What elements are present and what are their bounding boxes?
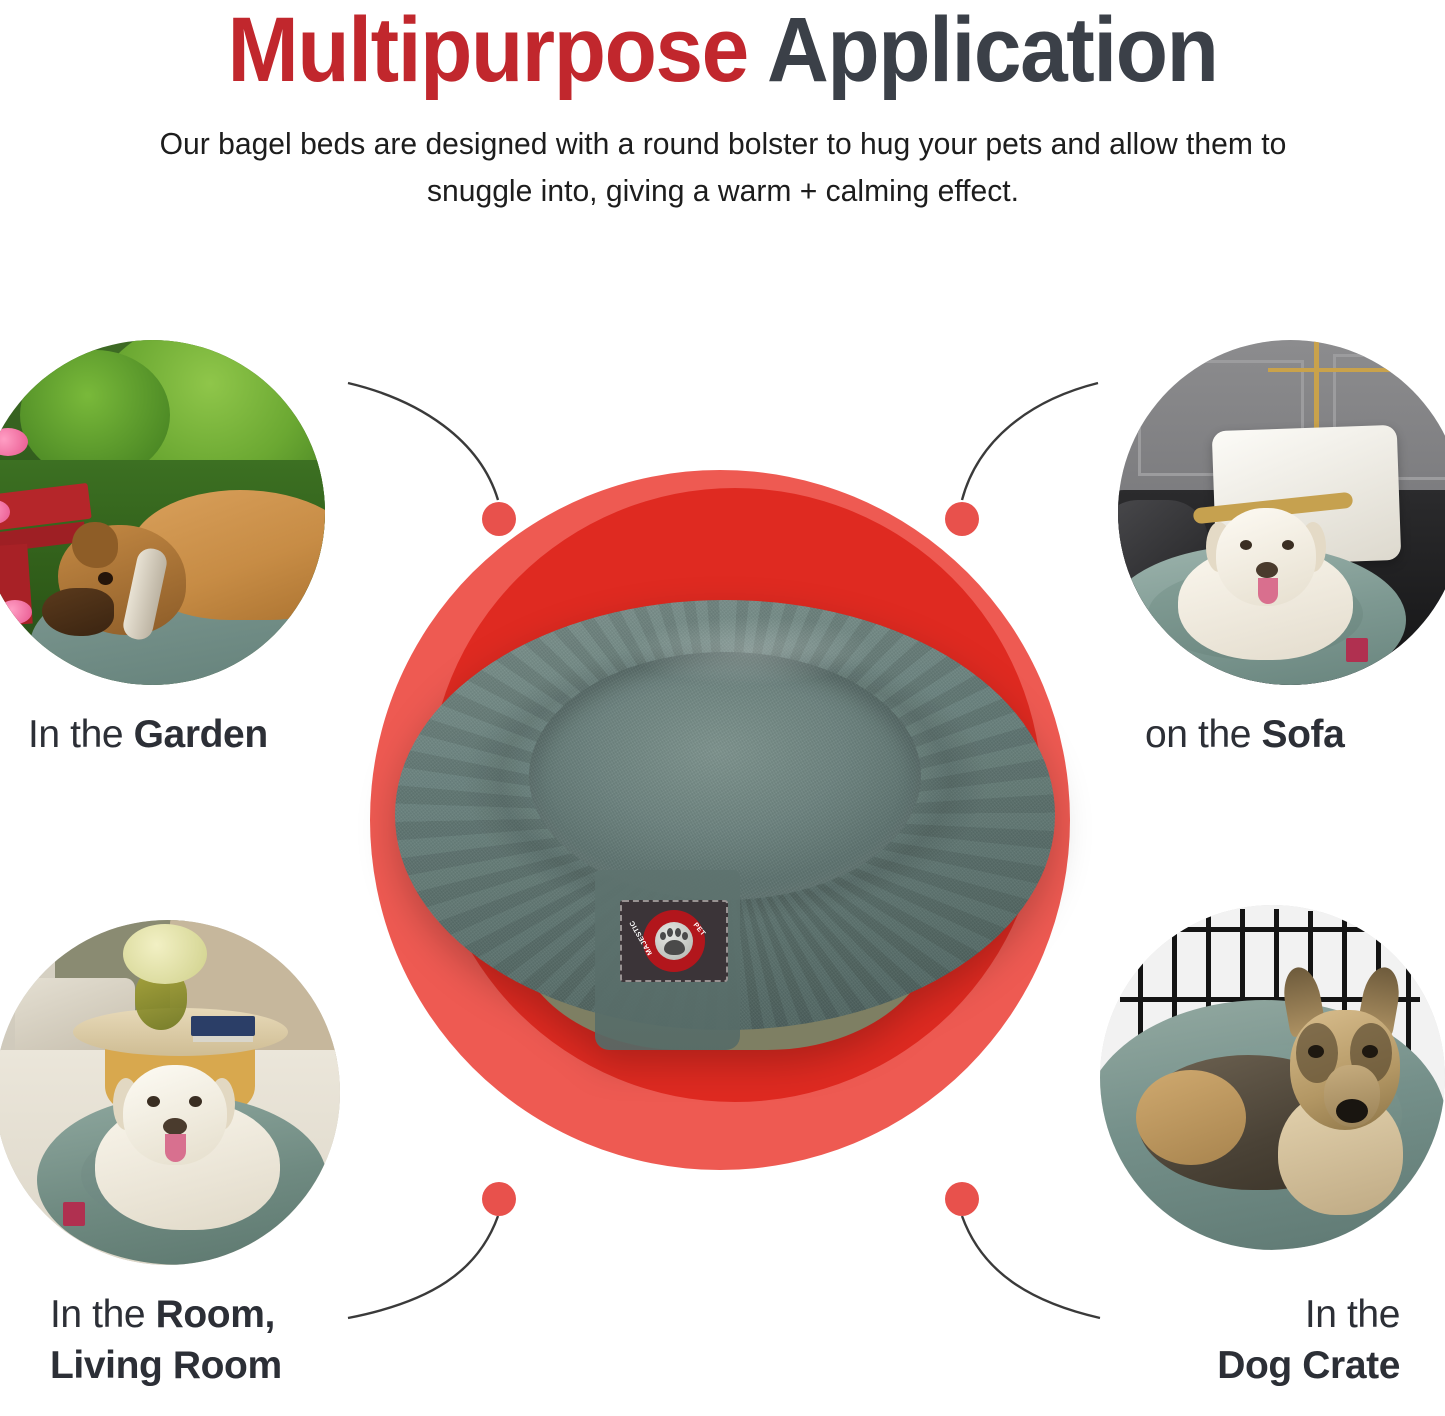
crate-dog-eye-left xyxy=(1308,1045,1324,1058)
caption-sofa: on the Sofa xyxy=(1145,710,1344,761)
crate-bar-v9 xyxy=(1406,937,1411,1057)
sofa-gold-trim-horizontal xyxy=(1268,368,1418,372)
sofa-bed-brand-tag xyxy=(1346,638,1368,662)
interior-fabric-texture xyxy=(529,652,921,900)
photo-living-room xyxy=(0,920,340,1265)
crate-dog-nose xyxy=(1336,1099,1368,1123)
sofa-dog-nose xyxy=(1256,562,1278,578)
photo-dog-crate xyxy=(1100,905,1445,1250)
caption-living-room: In the Room,Living Room xyxy=(50,1290,282,1391)
caption-garden: In the Garden xyxy=(28,710,268,761)
caption-dog-crate-regular: In the xyxy=(1305,1293,1400,1336)
sofa-dog-eye-right xyxy=(1282,540,1294,550)
paw-print-icon xyxy=(655,922,693,960)
caption-living-room-line2: Living Room xyxy=(50,1344,282,1387)
coffee-table-books xyxy=(191,1016,255,1036)
living-room-dog-eye-left xyxy=(147,1096,160,1107)
paw-toe-1 xyxy=(660,932,666,940)
caption-garden-regular: In the xyxy=(28,713,134,756)
paw-toe-3 xyxy=(675,928,681,937)
caption-living-room-regular: In the xyxy=(50,1293,156,1336)
crate-dog-hindquarters xyxy=(1136,1070,1246,1165)
crate-scene xyxy=(1100,905,1445,1250)
garden-dog-muzzle xyxy=(42,588,114,636)
crate-bar-v1 xyxy=(1138,923,1143,1043)
sofa-dog-eye-left xyxy=(1240,540,1252,550)
hydrangea-flowers xyxy=(123,924,207,984)
caption-dog-crate: In theDog Crate xyxy=(1000,1290,1400,1391)
brand-tag: MAJESTIC PET xyxy=(620,900,728,982)
caption-sofa-bold: Sofa xyxy=(1261,713,1344,756)
bolster-highlight xyxy=(625,616,875,686)
paw-pad-main xyxy=(664,940,685,955)
caption-dog-crate-bold: Dog Crate xyxy=(1217,1344,1400,1387)
caption-garden-bold: Garden xyxy=(134,713,268,756)
caption-living-room-bold: Room, xyxy=(156,1293,275,1336)
crate-dog-eye-right xyxy=(1362,1045,1378,1058)
crate-bar-h1 xyxy=(1120,927,1420,932)
photo-sofa xyxy=(1118,340,1445,685)
page-subtitle: Our bagel beds are designed with a round… xyxy=(131,120,1314,214)
majestic-pet-logo: MAJESTIC PET xyxy=(643,910,705,972)
page-title-dark-part: Application xyxy=(767,0,1217,101)
connector-dot-dog-crate xyxy=(945,1182,979,1216)
header: Multipurpose Application Our bagel beds … xyxy=(0,0,1445,214)
living-room-dog-tongue xyxy=(165,1134,186,1162)
living-room-dog-eye-right xyxy=(189,1096,202,1107)
paw-toe-2 xyxy=(667,928,673,937)
living-room-dog-nose xyxy=(163,1118,187,1135)
connector-dot-living-room xyxy=(482,1182,516,1216)
sofa-scene xyxy=(1118,340,1445,685)
garden-dog-eye xyxy=(98,572,113,585)
page-title-red-part: Multipurpose xyxy=(227,0,767,101)
brand-text-top: MAJESTIC xyxy=(629,919,654,956)
paw-toe-4 xyxy=(682,932,688,940)
living-room-bed-brand-tag xyxy=(63,1202,85,1226)
product-bagel-bed: MAJESTIC PET xyxy=(395,600,1055,1100)
page-title: Multipurpose Application xyxy=(51,4,1395,98)
bed-sleeping-surface xyxy=(529,652,921,900)
photo-garden xyxy=(0,340,325,685)
garden-dog-ear xyxy=(72,522,118,568)
caption-sofa-regular: on the xyxy=(1145,713,1261,756)
living-room-scene xyxy=(0,920,340,1265)
connector-dot-sofa xyxy=(945,502,979,536)
connector-line-living-room xyxy=(348,1216,498,1318)
sofa-dog-tongue xyxy=(1258,578,1278,604)
brand-text-bottom: PET xyxy=(692,922,707,938)
garden-scene xyxy=(0,340,325,685)
connector-dot-garden xyxy=(482,502,516,536)
